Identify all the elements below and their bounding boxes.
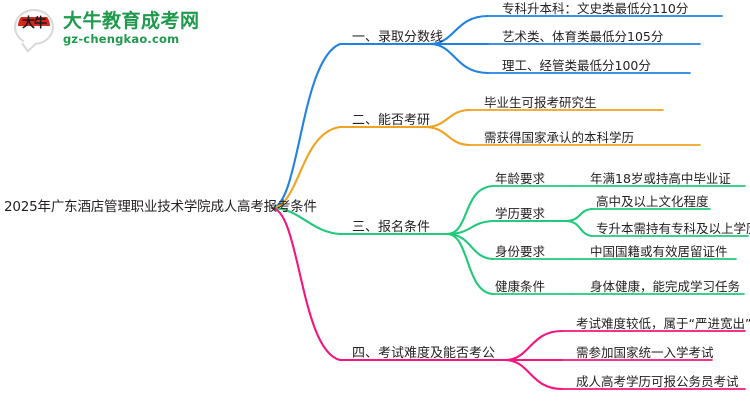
leaf-2-2[interactable]: 需获得国家承认的本科学历: [484, 132, 634, 145]
leaf-3-2-2[interactable]: 专升本需持有专科及以上学历: [596, 223, 750, 236]
mindmap-root-node[interactable]: 2025年广东酒店管理职业技术学院成人高考报考条件: [4, 201, 317, 215]
subnode-3-1[interactable]: 年龄要求: [495, 173, 545, 186]
branch-label-3[interactable]: 三、报名条件: [352, 221, 430, 234]
leaf-1-2[interactable]: 艺术类、体育类最低分105分: [502, 31, 663, 44]
leaf-3-1-1[interactable]: 年满18岁或持高中毕业证: [590, 173, 731, 186]
leaf-3-3-1[interactable]: 中国国籍或有效居留证件: [590, 246, 728, 259]
leaf-2-1[interactable]: 毕业生可报考研究生: [484, 97, 597, 110]
leaf-3-4-1[interactable]: 身体健康，能完成学习任务: [590, 281, 740, 294]
leaf-4-1[interactable]: 考试难度较低，属于“严进宽出”: [576, 318, 750, 331]
leaf-1-1[interactable]: 专科升本科：文史类最低分110分: [502, 3, 688, 16]
leaf-1-3[interactable]: 理工、经管类最低分100分: [502, 60, 651, 73]
branch-label-4[interactable]: 四、考试难度及能否考公: [352, 347, 495, 360]
subnode-3-2[interactable]: 学历要求: [495, 208, 545, 221]
leaf-3-2-1[interactable]: 高中及以上文化程度: [596, 196, 709, 209]
leaf-4-3[interactable]: 成人高考学历可报公务员考试: [576, 376, 739, 389]
subnode-3-4[interactable]: 健康条件: [495, 281, 545, 294]
branch-label-1[interactable]: 一、录取分数线: [352, 31, 443, 44]
leaf-4-2[interactable]: 需参加国家统一入学考试: [576, 347, 714, 360]
branch-label-2[interactable]: 二、能否考研: [352, 114, 430, 127]
subnode-3-3[interactable]: 身份要求: [495, 246, 545, 259]
